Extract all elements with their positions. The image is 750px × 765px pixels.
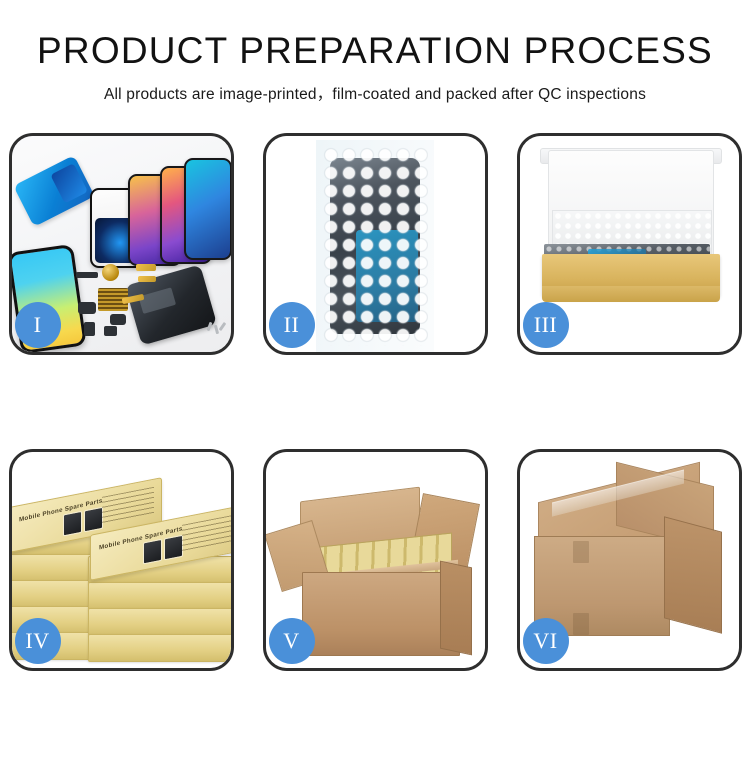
process-step-6[interactable]: VI: [517, 449, 742, 671]
process-step-1[interactable]: I: [9, 133, 234, 355]
spare-part-icon: [84, 322, 95, 336]
carton-side: [440, 561, 472, 656]
spare-part-icon: [104, 326, 117, 336]
process-step-3[interactable]: III: [517, 133, 742, 355]
flex-cable-icon: [136, 264, 156, 271]
flex-cable-icon: [138, 276, 156, 282]
carton-tab: [573, 541, 589, 563]
process-grid: I II: [0, 133, 750, 765]
step-badge-2: II: [269, 302, 315, 348]
page-header: PRODUCT PREPARATION PROCESS All products…: [0, 0, 750, 104]
process-step-2[interactable]: II: [263, 133, 488, 355]
screws-icon: [208, 322, 228, 338]
step-badge-5: V: [269, 618, 315, 664]
carton-front: [302, 572, 460, 656]
lcd-screen-icon: [13, 155, 94, 227]
bubble-texture-icon: [322, 146, 428, 346]
process-row-top: I II: [0, 133, 750, 355]
carton-tab: [573, 613, 589, 635]
process-step-5[interactable]: V: [263, 449, 488, 671]
process-row-bottom: Mobile Phone Spare Parts Mobile Phone Sp…: [0, 449, 750, 671]
step-badge-1: I: [15, 302, 61, 348]
spare-part-icon: [76, 272, 98, 278]
kraft-box-front: [542, 286, 720, 302]
page-subtitle: All products are image-printed，film-coat…: [0, 82, 750, 104]
step-badge-3: III: [523, 302, 569, 348]
spare-part-icon: [110, 314, 126, 325]
carton-side: [664, 516, 722, 634]
phone-display-icon: [184, 158, 231, 260]
process-step-4[interactable]: Mobile Phone Spare Parts Mobile Phone Sp…: [9, 449, 234, 671]
step-badge-6: VI: [523, 618, 569, 664]
spare-part-icon: [78, 302, 96, 314]
step-badge-4: IV: [15, 618, 61, 664]
speaker-part-icon: [102, 264, 119, 281]
page-title: PRODUCT PREPARATION PROCESS: [0, 32, 750, 71]
bubble-wrap-bag: [316, 140, 434, 352]
